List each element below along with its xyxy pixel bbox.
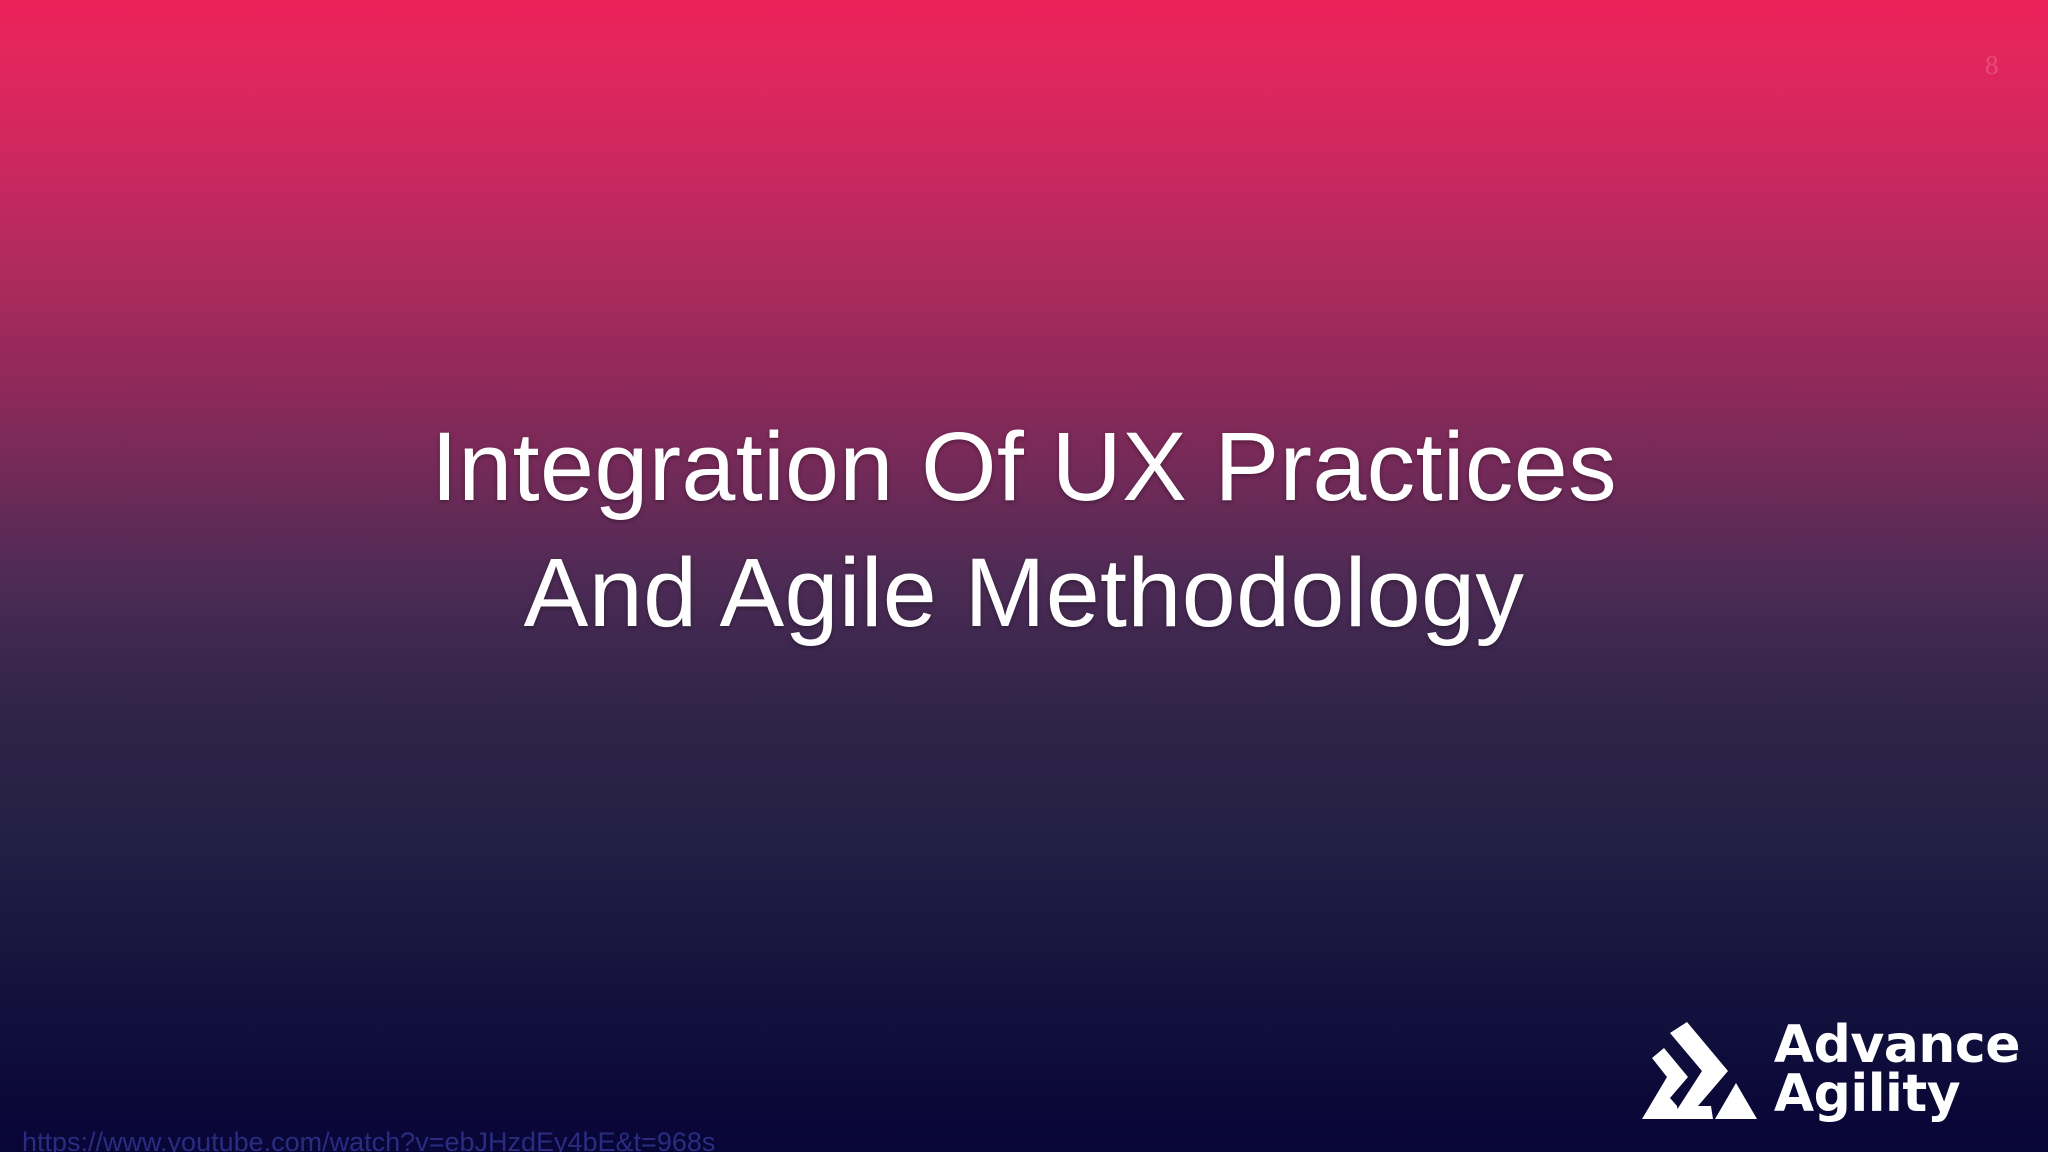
brand-logo: Advance Agility xyxy=(1640,1020,2020,1120)
page-number: 8 xyxy=(1972,50,2012,81)
title-line-1: Integration Of UX Practices xyxy=(160,404,1888,530)
slide-title: Integration Of UX Practices And Agile Me… xyxy=(0,404,2048,656)
brand-name-line-2: Agility xyxy=(1774,1070,2020,1119)
brand-name-line-1: Advance xyxy=(1774,1021,2020,1070)
title-line-2: And Agile Methodology xyxy=(160,530,1888,656)
brand-wordmark: Advance Agility xyxy=(1774,1021,2020,1119)
double-chevron-triangle-icon xyxy=(1640,1020,1758,1120)
presentation-slide: 8 Integration Of UX Practices And Agile … xyxy=(0,0,2048,1152)
source-hyperlink[interactable]: https://www.youtube.com/watch?v=ebJHzdEy… xyxy=(22,1125,715,1152)
